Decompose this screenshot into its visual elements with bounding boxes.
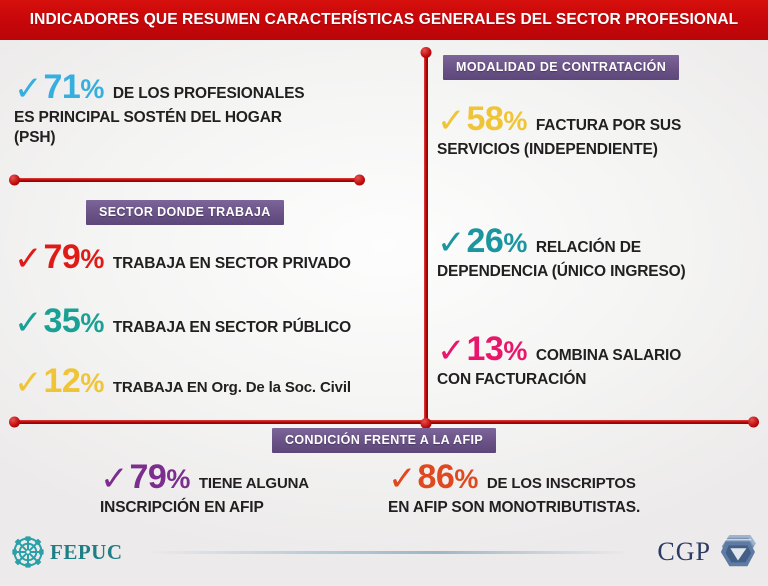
stat-value: 79%	[44, 238, 104, 276]
stat-headline: ✓ 71% DE LOS PROFESIONALES	[14, 68, 304, 106]
cgp-wordmark: CGP	[657, 537, 711, 567]
divider-line-top	[14, 178, 360, 182]
fepuc-logo: FEPUC	[10, 534, 123, 570]
divider-dot-left	[9, 417, 20, 428]
stat-description-cont: SERVICIOS (INDEPENDIENTE)	[437, 141, 681, 158]
stat-headline: ✓ 79% TRABAJA EN SECTOR PRIVADO	[14, 238, 351, 276]
stat-factura-independiente: ✓ 58% FACTURA POR SUS SERVICIOS (INDEPEN…	[437, 100, 681, 158]
fepuc-wheel-icon	[10, 534, 46, 570]
check-icon: ✓	[14, 242, 43, 276]
stat-sector-publico: ✓ 35% TRABAJA EN SECTOR PÚBLICO	[14, 302, 351, 340]
check-icon: ✓	[437, 226, 466, 260]
stat-description: TIENE ALGUNA	[199, 476, 309, 493]
stat-headline: ✓ 26% RELACIÓN DE	[437, 222, 686, 260]
stat-description-cont: INSCRIPCIÓN EN AFIP	[100, 499, 309, 516]
stat-value: 79%	[130, 458, 190, 496]
footer: FEPUC CGP	[0, 528, 768, 586]
check-icon: ✓	[437, 104, 466, 138]
stat-headline: ✓ 79% TIENE ALGUNA	[100, 458, 309, 496]
stat-inscripcion-afip: ✓ 79% TIENE ALGUNA INSCRIPCIÓN EN AFIP	[100, 458, 309, 516]
stat-value: 71%	[44, 68, 104, 106]
stat-description: DE LOS INSCRIPTOS	[487, 476, 636, 493]
stat-relacion-dependencia: ✓ 26% RELACIÓN DE DEPENDENCIA (ÚNICO ING…	[437, 222, 686, 280]
divider-line-bottom	[14, 420, 754, 424]
stat-value: 26%	[467, 222, 527, 260]
section-badge-sector: SECTOR DONDE TRABAJA	[86, 200, 284, 225]
stat-description-cont: EN AFIP SON MONOTRIBUTISTAS.	[388, 499, 640, 516]
stat-description-cont: CON FACTURACIÓN	[437, 371, 681, 388]
divider-dot-top	[421, 47, 432, 58]
page-title: INDICADORES QUE RESUMEN CARACTERÍSTICAS …	[30, 11, 739, 29]
stat-headline: ✓ 35% TRABAJA EN SECTOR PÚBLICO	[14, 302, 351, 340]
stat-headline: ✓ 12% TRABAJA EN Org. De la Soc. Civil	[14, 362, 351, 400]
cgp-logo: CGP	[657, 534, 756, 570]
stat-value: 35%	[44, 302, 104, 340]
stat-value: 58%	[467, 100, 527, 138]
stat-value: 86%	[418, 458, 478, 496]
footer-divider	[148, 551, 628, 554]
stat-description: TRABAJA EN SECTOR PRIVADO	[113, 255, 351, 272]
section-badge-modalidad: MODALIDAD DE CONTRATACIÓN	[443, 55, 679, 80]
stat-description: COMBINA SALARIO	[536, 347, 681, 364]
stat-headline: ✓ 86% DE LOS INSCRIPTOS	[388, 458, 640, 496]
stat-description: FACTURA POR SUS	[536, 117, 681, 134]
check-icon: ✓	[100, 462, 129, 496]
cgp-hexagon-icon	[718, 534, 756, 570]
check-icon: ✓	[437, 334, 466, 368]
stat-value: 12%	[44, 362, 104, 400]
check-icon: ✓	[388, 462, 417, 496]
header-bar: INDICADORES QUE RESUMEN CARACTERÍSTICAS …	[0, 0, 768, 40]
check-icon: ✓	[14, 72, 43, 106]
stat-description-cont: ES PRINCIPAL SOSTÉN DEL HOGAR	[14, 109, 304, 126]
stat-monotributistas: ✓ 86% DE LOS INSCRIPTOS EN AFIP SON MONO…	[388, 458, 640, 516]
stat-headline: ✓ 13% COMBINA SALARIO	[437, 330, 681, 368]
divider-dot-right	[354, 175, 365, 186]
stat-description: TRABAJA EN Org. De la Soc. Civil	[113, 380, 351, 397]
stat-psh: ✓ 71% DE LOS PROFESIONALES ES PRINCIPAL …	[14, 68, 304, 147]
divider-dot-left	[9, 175, 20, 186]
check-icon: ✓	[14, 366, 43, 400]
stat-sector-privado: ✓ 79% TRABAJA EN SECTOR PRIVADO	[14, 238, 351, 276]
divider-line-vertical	[424, 52, 428, 424]
infographic-root: INDICADORES QUE RESUMEN CARACTERÍSTICAS …	[0, 0, 768, 586]
section-badge-afip: CONDICIÓN FRENTE A LA AFIP	[272, 428, 496, 453]
fepuc-wordmark: FEPUC	[50, 540, 123, 565]
check-icon: ✓	[14, 306, 43, 340]
stat-combina-salario: ✓ 13% COMBINA SALARIO CON FACTURACIÓN	[437, 330, 681, 388]
stat-description: TRABAJA EN SECTOR PÚBLICO	[113, 319, 351, 336]
stat-sociedad-civil: ✓ 12% TRABAJA EN Org. De la Soc. Civil	[14, 362, 351, 400]
divider-dot-right	[748, 417, 759, 428]
stat-description: RELACIÓN DE	[536, 239, 641, 256]
stat-value: 13%	[467, 330, 527, 368]
stat-description-cont: DEPENDENCIA (ÚNICO INGRESO)	[437, 263, 686, 280]
stat-description-cont2: (PSH)	[14, 129, 304, 146]
stat-description: DE LOS PROFESIONALES	[113, 85, 305, 102]
stat-headline: ✓ 58% FACTURA POR SUS	[437, 100, 681, 138]
